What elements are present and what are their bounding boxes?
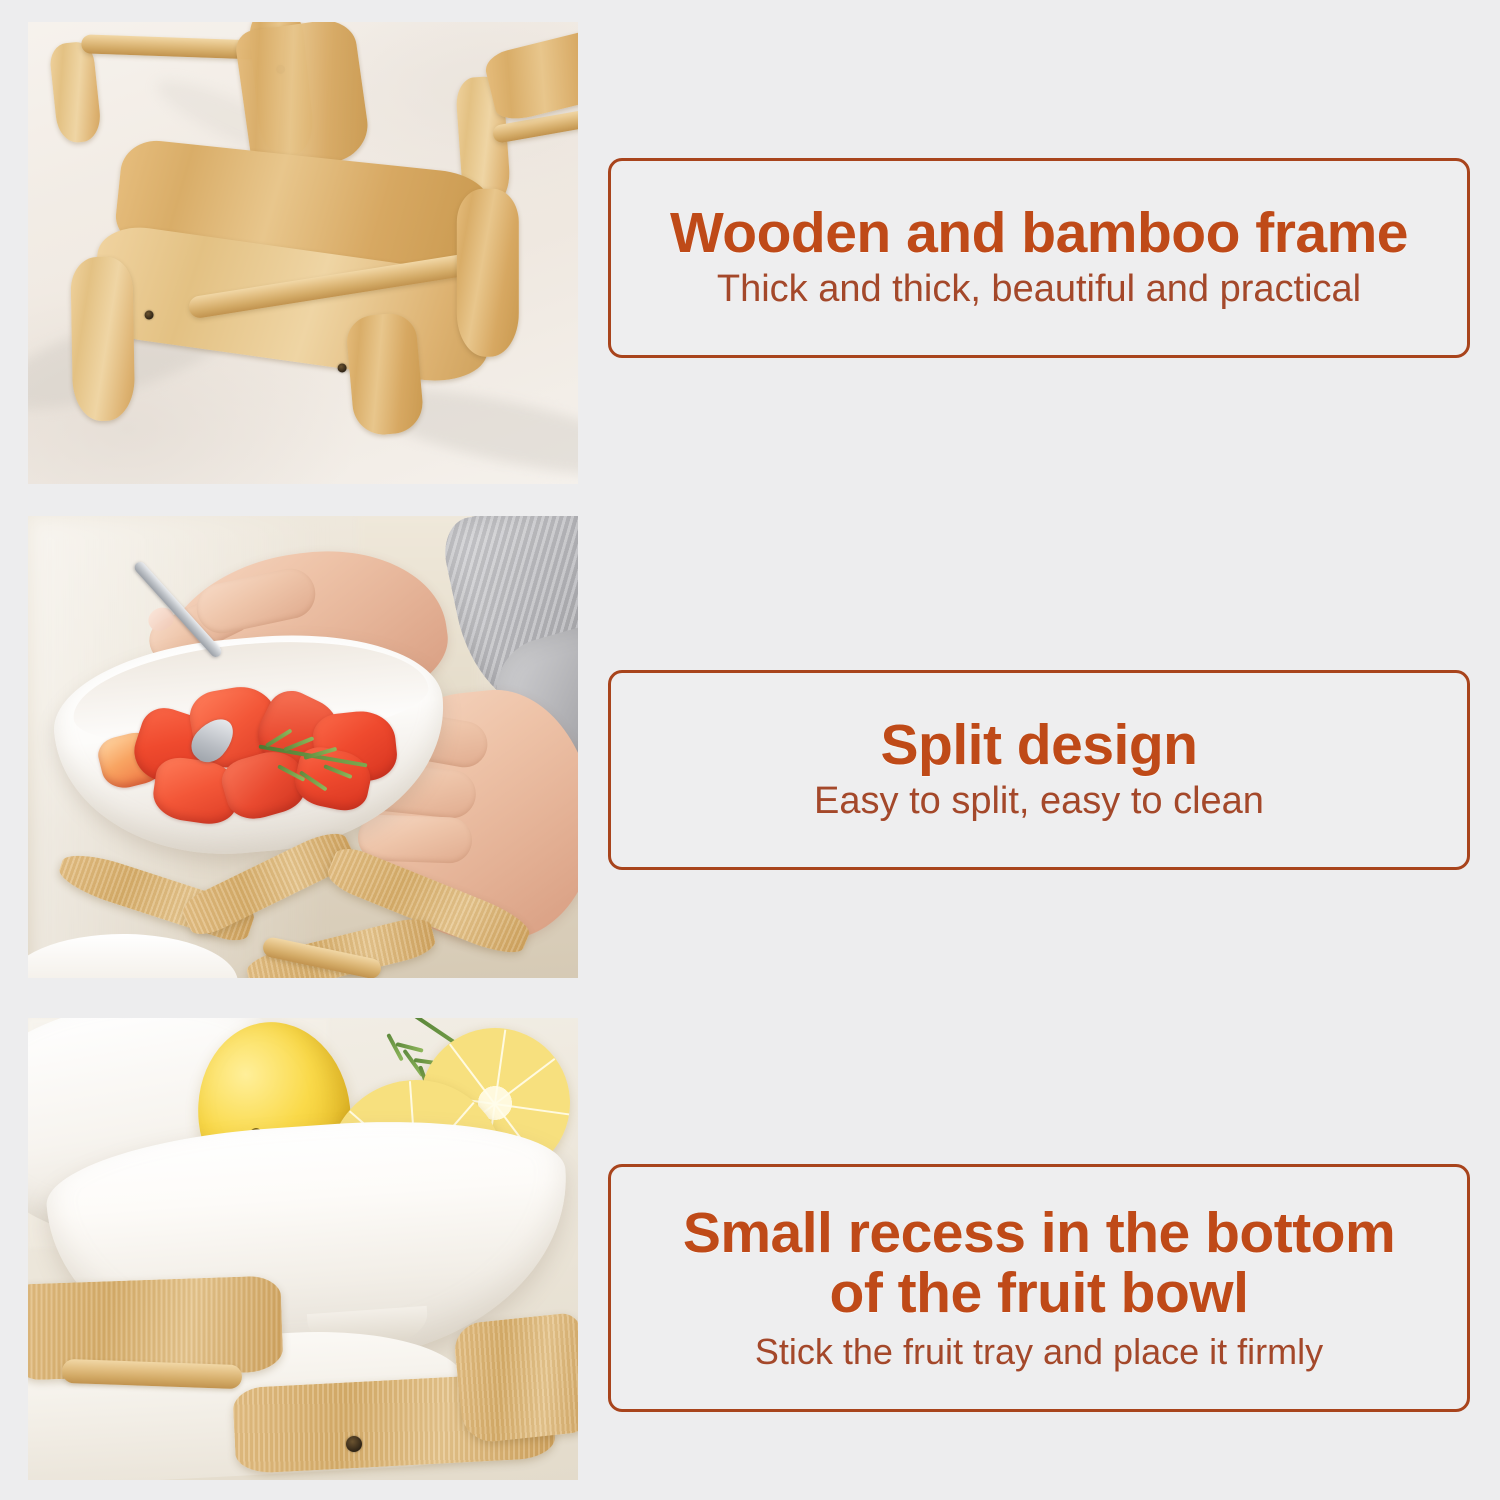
feature-callout-3: Small recess in the bottom of the fruit … (608, 1164, 1470, 1412)
infographic-canvas: Wooden and bamboo frame Thick and thick,… (0, 0, 1500, 1500)
feature-photo-bowl-recess (28, 1018, 578, 1480)
feature-photo-bamboo-frame (28, 22, 578, 484)
feature-callout-1: Wooden and bamboo frame Thick and thick,… (608, 158, 1470, 358)
feature-title-3: Small recess in the bottom of the fruit … (683, 1203, 1395, 1324)
feature-subtitle-3: Stick the fruit tray and place it firmly (755, 1330, 1323, 1373)
feature-title-1: Wooden and bamboo frame (670, 203, 1408, 263)
feature-title-2: Split design (880, 715, 1197, 775)
feature-subtitle-2: Easy to split, easy to clean (814, 779, 1264, 825)
feature-photo-split-design (28, 516, 578, 978)
feature-subtitle-1: Thick and thick, beautiful and practical (717, 267, 1361, 313)
feature-callout-2: Split design Easy to split, easy to clea… (608, 670, 1470, 870)
